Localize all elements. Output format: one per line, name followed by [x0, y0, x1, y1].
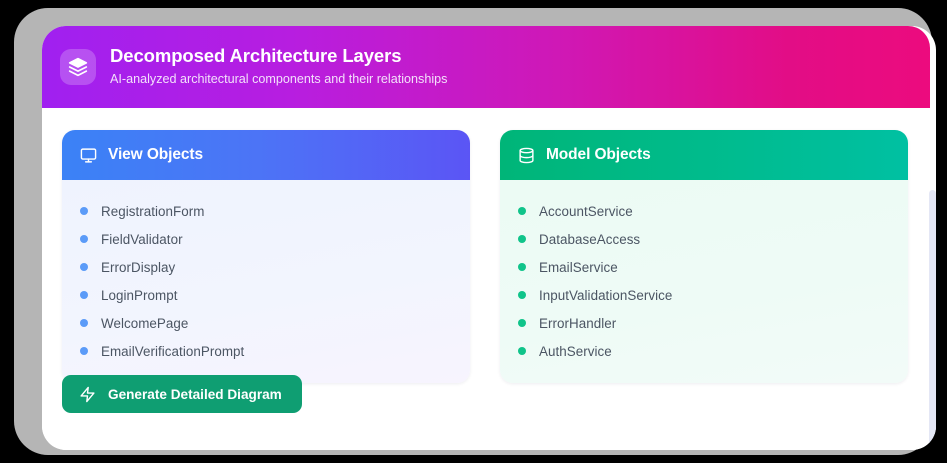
list-item[interactable]: ErrorDisplay — [80, 253, 452, 281]
list-item-label: FieldValidator — [101, 232, 183, 247]
card-view-objects: View Objects RegistrationForm FieldValid… — [62, 130, 470, 383]
bullet-icon — [80, 235, 88, 243]
card-model-objects-list: AccountService DatabaseAccess EmailServi… — [500, 180, 908, 383]
bullet-icon — [518, 207, 526, 215]
vertical-scrollbar-track[interactable] — [929, 108, 936, 450]
list-item-label: WelcomePage — [101, 316, 188, 331]
list-item-label: EmailVerificationPrompt — [101, 344, 244, 359]
bullet-icon — [518, 319, 526, 327]
list-item-label: DatabaseAccess — [539, 232, 640, 247]
generate-detailed-diagram-label: Generate Detailed Diagram — [108, 387, 282, 402]
bullet-icon — [80, 263, 88, 271]
list-item[interactable]: AuthService — [518, 337, 890, 365]
list-item[interactable]: EmailService — [518, 253, 890, 281]
list-item-label: AccountService — [539, 204, 633, 219]
window-bezel: Decomposed Architecture Layers AI-analyz… — [14, 8, 932, 455]
list-item-label: LoginPrompt — [101, 288, 177, 303]
bullet-icon — [518, 235, 526, 243]
card-model-objects: Model Objects AccountService DatabaseAcc… — [500, 130, 908, 383]
list-item[interactable]: FieldValidator — [80, 225, 452, 253]
list-item[interactable]: LoginPrompt — [80, 281, 452, 309]
list-item-label: InputValidationService — [539, 288, 672, 303]
page-content: View Objects RegistrationForm FieldValid… — [42, 108, 930, 450]
page-subtitle: AI-analyzed architectural components and… — [110, 69, 447, 89]
bullet-icon — [518, 263, 526, 271]
database-icon — [518, 147, 535, 164]
monitor-icon — [80, 147, 97, 164]
cards-row: View Objects RegistrationForm FieldValid… — [62, 130, 908, 383]
list-item-label: ErrorHandler — [539, 316, 616, 331]
bullet-icon — [80, 207, 88, 215]
list-item[interactable]: InputValidationService — [518, 281, 890, 309]
list-item-label: EmailService — [539, 260, 618, 275]
page-banner: Decomposed Architecture Layers AI-analyz… — [42, 26, 930, 108]
list-item[interactable]: RegistrationForm — [80, 197, 452, 225]
layers-stack-icon — [60, 49, 96, 85]
app-viewport: Decomposed Architecture Layers AI-analyz… — [42, 26, 936, 450]
bullet-icon — [518, 291, 526, 299]
bullet-icon — [518, 347, 526, 355]
generate-detailed-diagram-button[interactable]: Generate Detailed Diagram — [62, 375, 302, 413]
list-item-label: RegistrationForm — [101, 204, 205, 219]
page-title: Decomposed Architecture Layers — [110, 45, 447, 67]
bullet-icon — [80, 291, 88, 299]
list-item[interactable]: DatabaseAccess — [518, 225, 890, 253]
card-model-objects-title: Model Objects — [546, 146, 651, 164]
list-item-label: AuthService — [539, 344, 612, 359]
card-view-objects-list: RegistrationForm FieldValidator ErrorDis… — [62, 180, 470, 383]
card-model-objects-header: Model Objects — [500, 130, 908, 180]
banner-text-block: Decomposed Architecture Layers AI-analyz… — [110, 45, 447, 89]
bullet-icon — [80, 347, 88, 355]
list-item[interactable]: EmailVerificationPrompt — [80, 337, 452, 365]
card-view-objects-title: View Objects — [108, 146, 203, 164]
zap-icon — [79, 386, 96, 403]
list-item-label: ErrorDisplay — [101, 260, 175, 275]
list-item[interactable]: WelcomePage — [80, 309, 452, 337]
list-item[interactable]: ErrorHandler — [518, 309, 890, 337]
vertical-scrollbar-thumb[interactable] — [929, 190, 936, 450]
screen-backdrop: Decomposed Architecture Layers AI-analyz… — [0, 0, 947, 463]
list-item[interactable]: AccountService — [518, 197, 890, 225]
card-view-objects-header: View Objects — [62, 130, 470, 180]
bullet-icon — [80, 319, 88, 327]
